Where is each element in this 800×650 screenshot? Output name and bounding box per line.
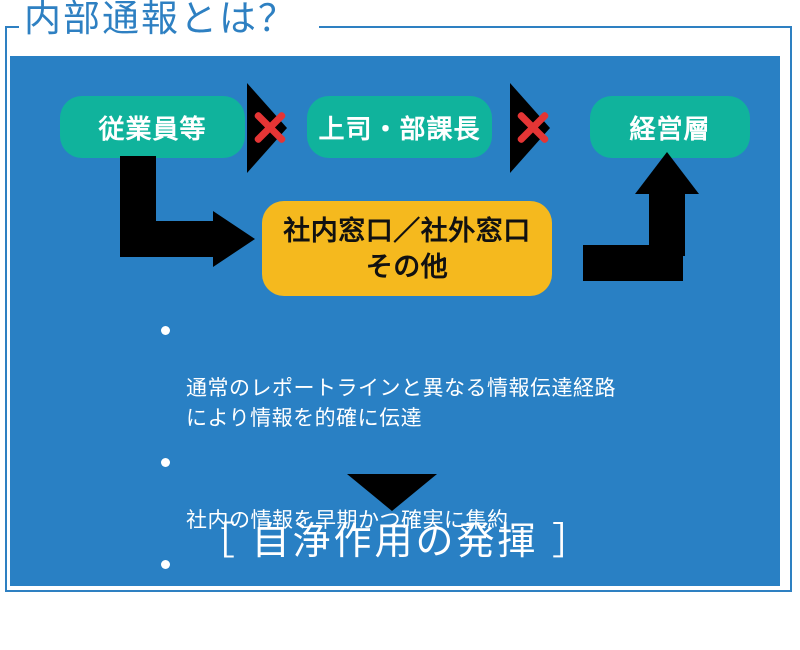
- arrow-shaft-vertical: [649, 190, 685, 256]
- flow-pill-executive: 経営層: [590, 96, 750, 158]
- elbow-arrow-right-up-icon: [583, 156, 713, 281]
- blocked-arrow-icon: [510, 83, 556, 173]
- red-x-icon: [250, 107, 290, 147]
- infographic-root: 内部通報とは？ 従業員等 上司・部課長 経営層: [0, 0, 800, 600]
- list-item-label: 通常のレポートラインと異なる情報伝達経路 により情報を的確に伝達: [186, 377, 616, 430]
- conclusion-text: ［ 自浄作用の発揮 ］: [10, 518, 780, 566]
- arrow-head-up: [635, 152, 699, 194]
- bullet-dot-icon: [161, 326, 170, 335]
- list-item-label: 不祥事に先手を打って対応が可能: [186, 611, 507, 634]
- hotline-box: 社内窓口／社外窓口 その他: [262, 201, 552, 296]
- arrow-head-right: [213, 211, 255, 267]
- bullet-dot-icon: [161, 458, 170, 467]
- arrow-shaft-horizontal: [120, 221, 215, 257]
- red-x-icon: [513, 107, 553, 147]
- list-item: 通常のレポートラインと異なる情報伝達経路 により情報を的確に伝達: [158, 314, 718, 434]
- hotline-line-1: 社内窓口／社外窓口: [283, 213, 531, 249]
- content-panel: 従業員等 上司・部課長 経営層 社内窓口／社: [10, 56, 780, 586]
- down-triangle-icon: [347, 474, 437, 511]
- flow-pill-employee: 従業員等: [60, 96, 245, 158]
- page-title: 内部通報とは？: [24, 0, 297, 42]
- flow-pill-manager: 上司・部課長: [307, 96, 492, 158]
- hotline-line-2: その他: [366, 249, 449, 285]
- elbow-arrow-down-right-icon: [120, 156, 255, 276]
